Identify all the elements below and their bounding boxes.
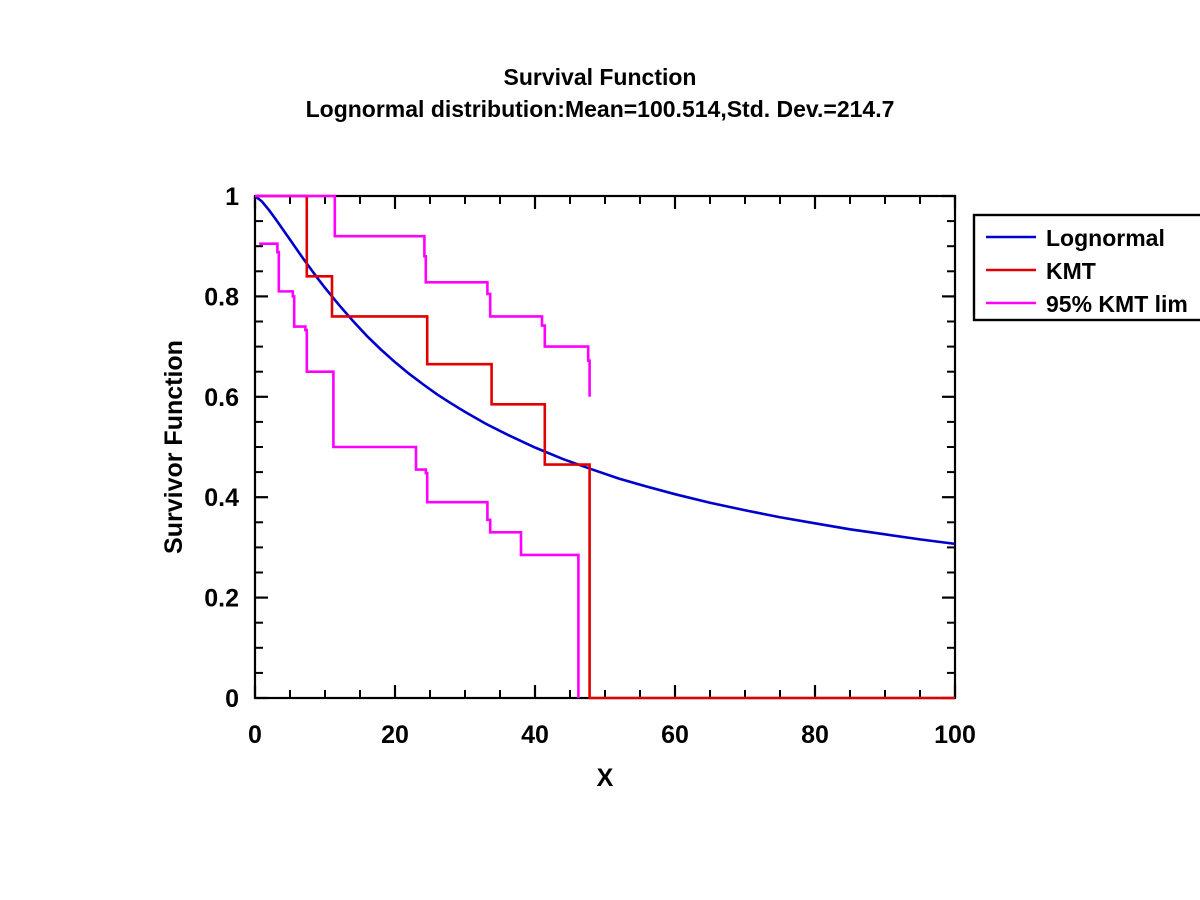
x-tick-label: 40 <box>521 721 549 749</box>
series-path <box>259 244 578 698</box>
series-path <box>255 196 590 397</box>
y-tick-label: 0.8 <box>204 283 239 311</box>
legend-label[interactable]: KMT <box>1046 258 1096 284</box>
axis-labels-group: 02040608010000.20.40.60.81XSurvivor Func… <box>160 183 976 792</box>
series-path <box>255 196 955 544</box>
x-tick-label: 60 <box>661 721 689 749</box>
y-tick-label: 0.6 <box>204 384 239 412</box>
legend-label[interactable]: Lognormal <box>1046 225 1165 251</box>
y-tick-label: 0.2 <box>204 585 239 613</box>
legend[interactable]: LognormalKMT95% KMT lim <box>974 215 1200 320</box>
legend-label[interactable]: 95% KMT lim <box>1046 291 1188 317</box>
x-tick-label: 20 <box>381 721 409 749</box>
x-tick-label: 100 <box>934 721 976 749</box>
figure-canvas: Survival Function Lognormal distribution… <box>0 0 1200 900</box>
x-axis-title: X <box>597 764 614 792</box>
plot-area: 02040608010000.20.40.60.81XSurvivor Func… <box>0 0 1200 900</box>
y-tick-label: 0 <box>225 685 239 713</box>
x-tick-label: 80 <box>801 721 829 749</box>
x-tick-label: 0 <box>248 721 262 749</box>
y-tick-label: 1 <box>225 183 239 211</box>
y-axis-title: Survivor Function <box>160 340 188 554</box>
data-series-group <box>255 196 955 698</box>
y-tick-label: 0.4 <box>204 484 239 512</box>
